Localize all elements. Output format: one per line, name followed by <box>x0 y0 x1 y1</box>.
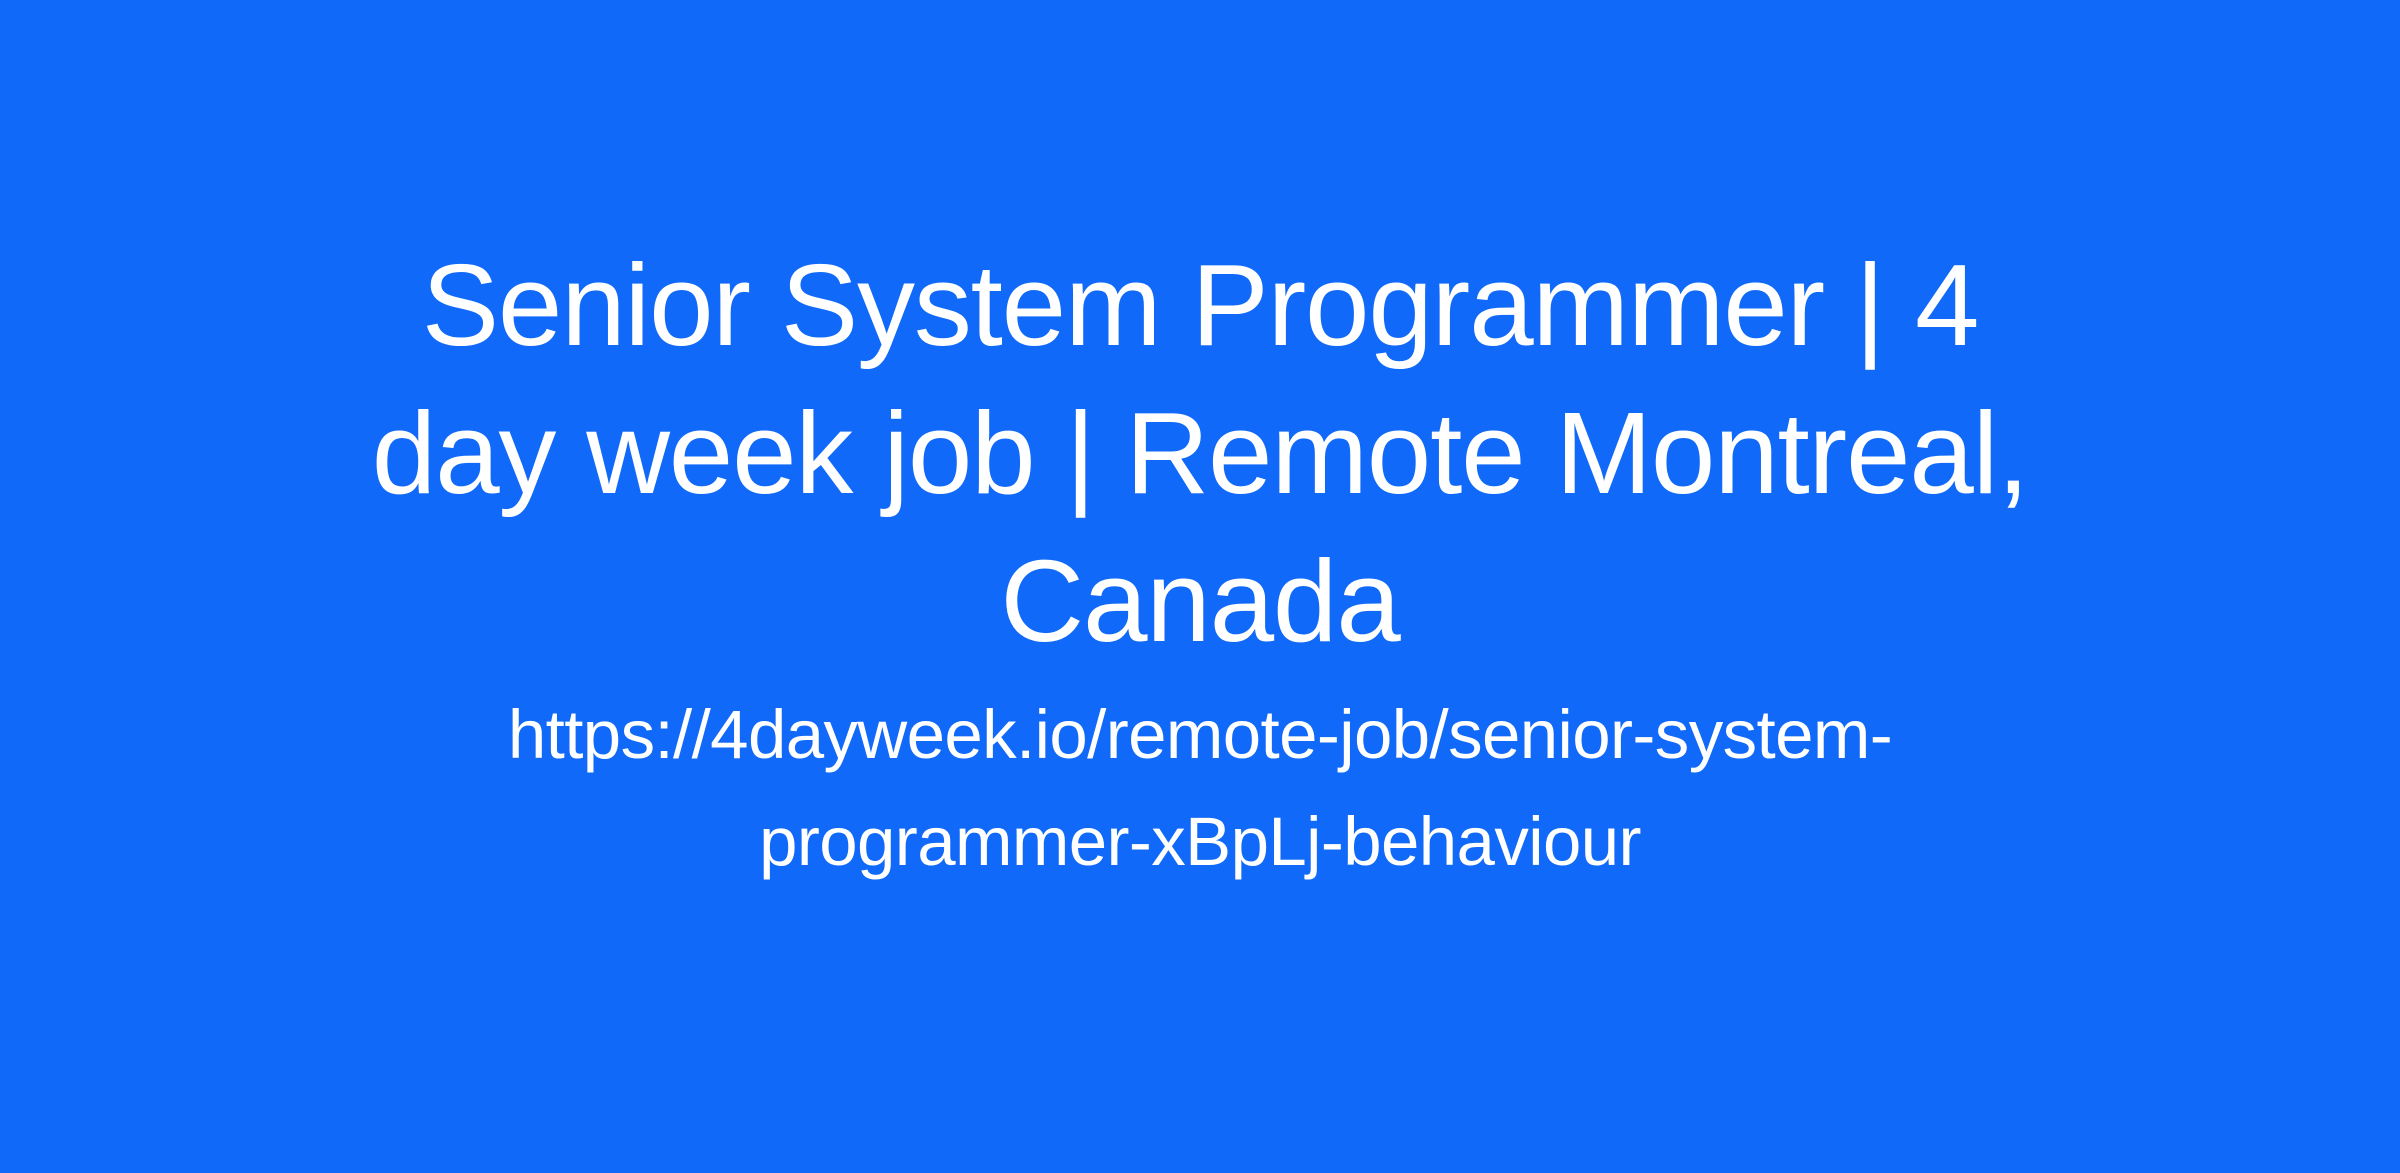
job-url[interactable]: https://4dayweek.io/remote-job/senior-sy… <box>430 681 1970 895</box>
job-share-card: Senior System Programmer | 4 day week jo… <box>0 0 2400 1173</box>
job-title: Senior System Programmer | 4 day week jo… <box>355 231 2045 675</box>
card-content: Senior System Programmer | 4 day week jo… <box>320 231 2080 895</box>
